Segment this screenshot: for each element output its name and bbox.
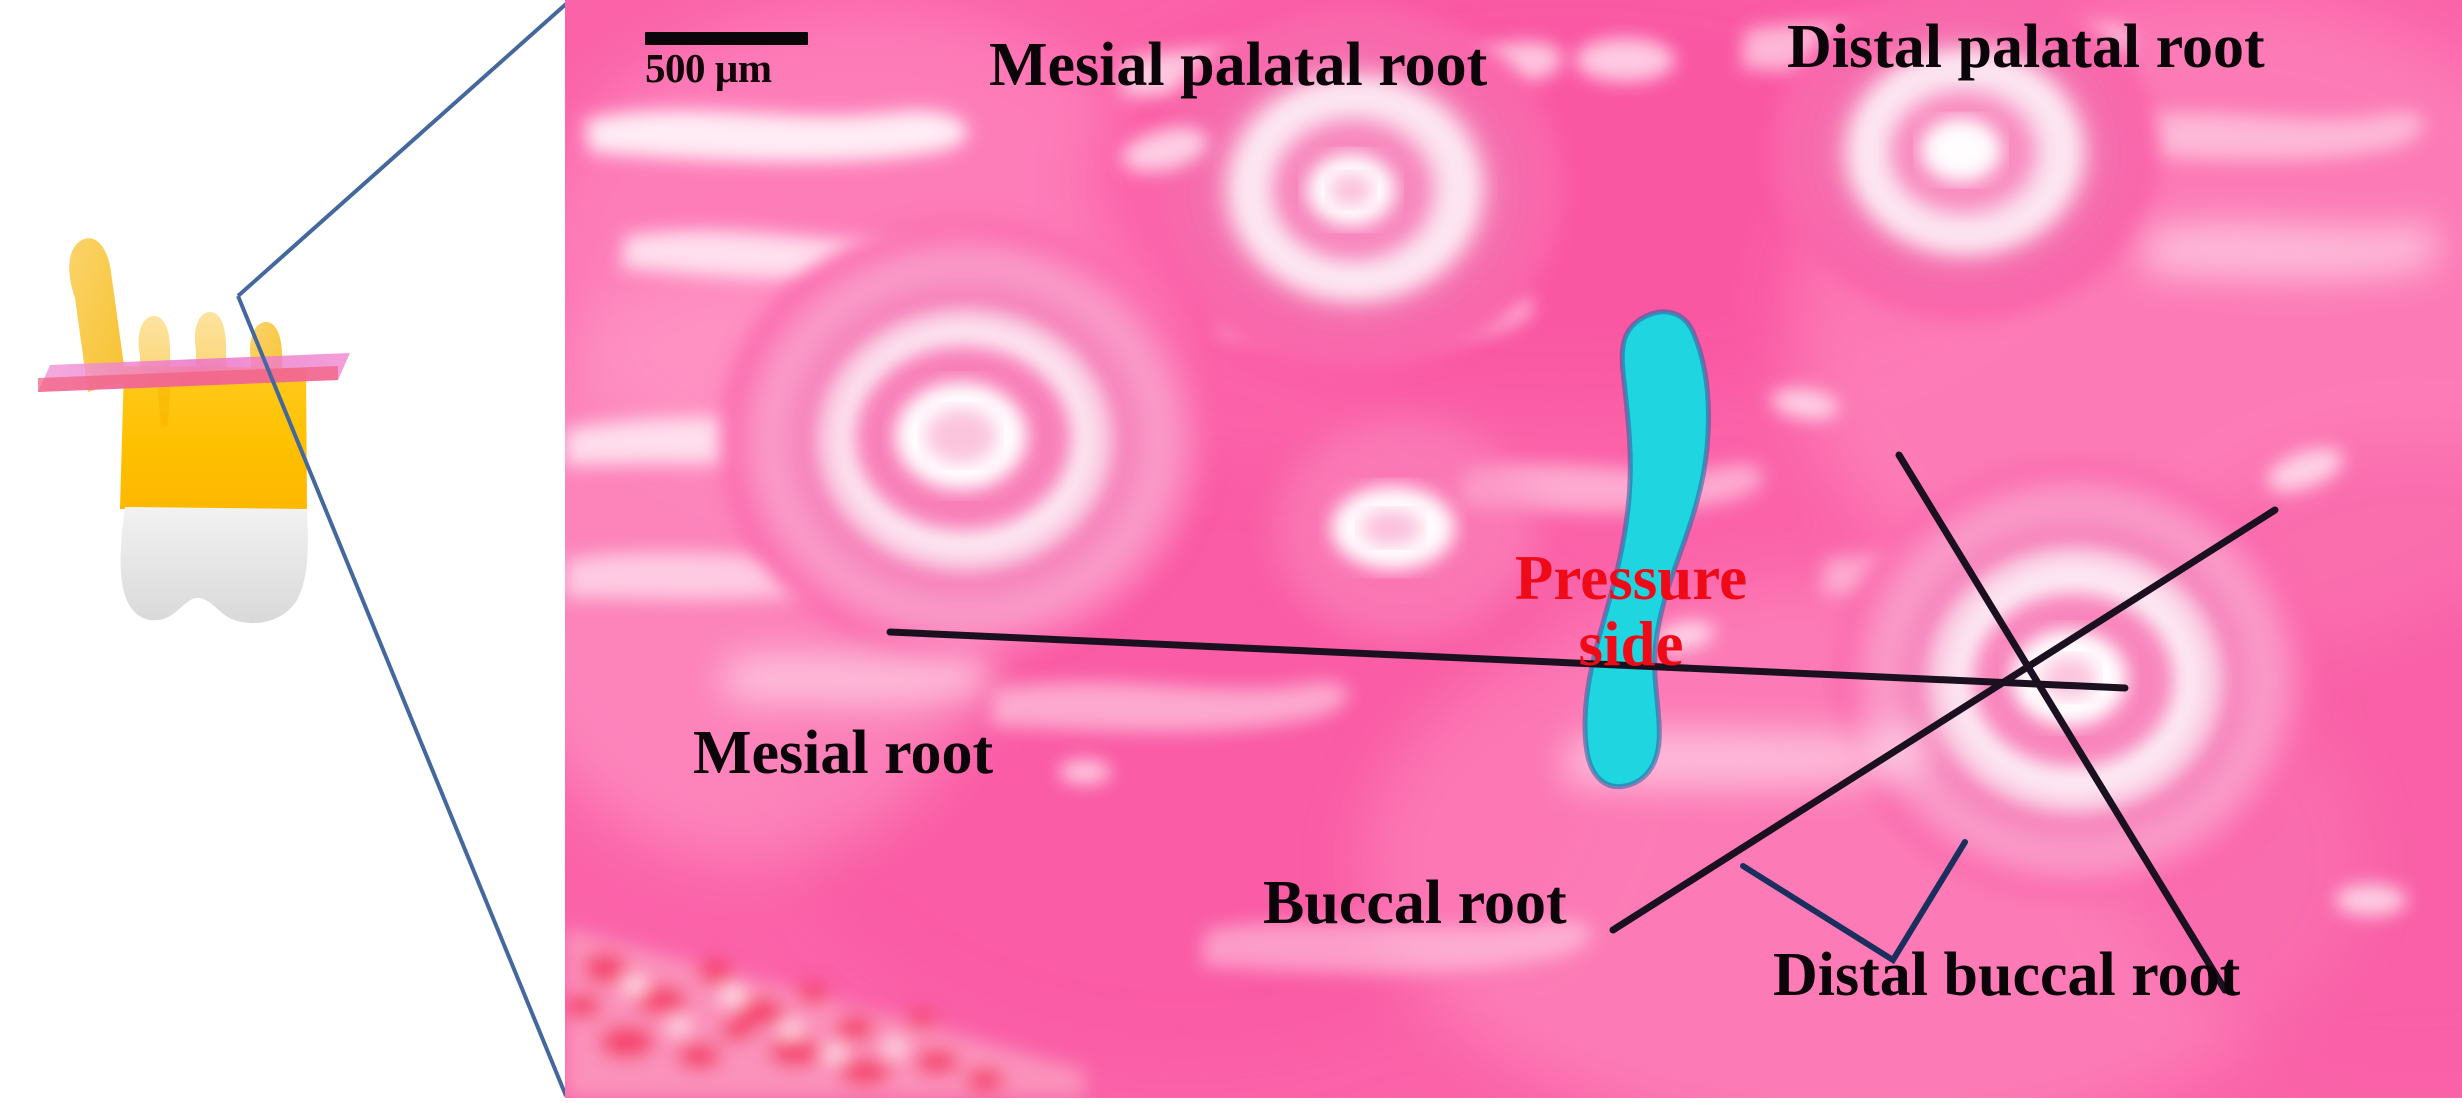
pressure-side-line2: side (1495, 614, 1767, 676)
label-mesial-root: Mesial root (693, 722, 993, 784)
label-mesial-palatal-root: Mesial palatal root (989, 34, 1487, 96)
label-buccal-root: Buccal root (1263, 872, 1567, 934)
scale-bar: 500 µm (645, 32, 808, 89)
figure-root: 500 µm Mesial palatal root Distal palata… (0, 0, 2462, 1103)
root-mesial (720, 220, 1210, 660)
histology-panel: 500 µm Mesial palatal root Distal palata… (565, 0, 2462, 1098)
scale-bar-line (645, 32, 808, 45)
tooth-schematic-svg (20, 180, 350, 660)
pressure-side-annotation: Pressure side (1495, 548, 1767, 675)
pressure-side-line1: Pressure (1515, 543, 1747, 613)
tooth-schematic-inset (20, 180, 350, 660)
scale-bar-label: 500 µm (645, 48, 808, 89)
tooth-crown (120, 366, 307, 510)
label-distal-buccal-root: Distal buccal root (1773, 944, 2240, 1006)
tooth-base (121, 507, 308, 623)
label-distal-palatal-root: Distal palatal root (1787, 16, 2265, 78)
